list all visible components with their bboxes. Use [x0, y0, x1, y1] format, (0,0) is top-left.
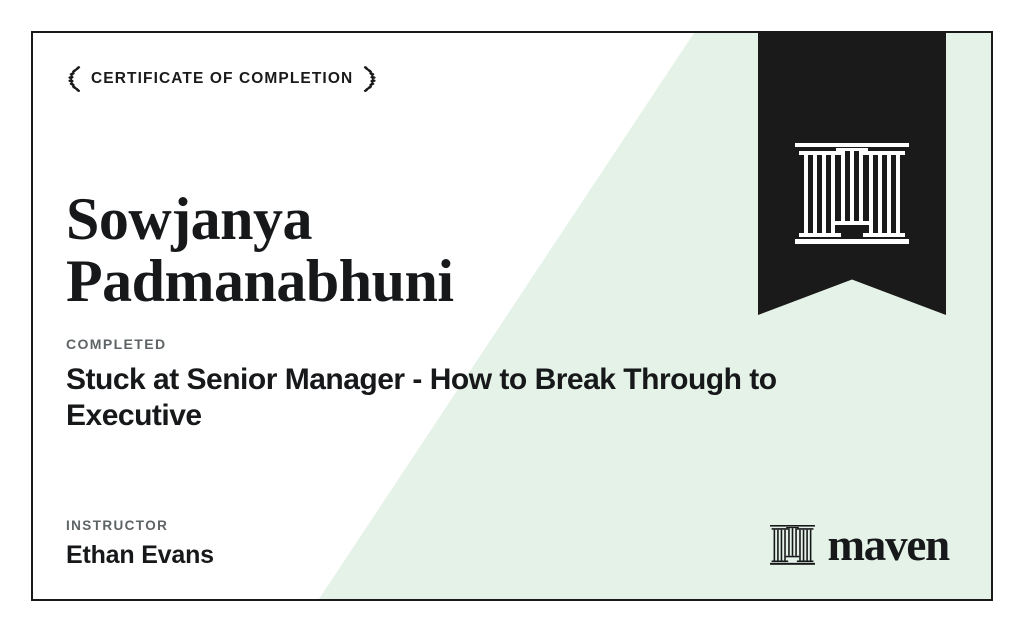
course-title: Stuck at Senior Manager - How to Break T…	[66, 362, 912, 434]
certificate-page: CERTIFICATE OF COMPLETION	[0, 0, 1024, 630]
maven-pillars-emblem-icon	[795, 143, 909, 247]
certificate-kicker: CERTIFICATE OF COMPLETION	[91, 71, 353, 87]
certificate-header: CERTIFICATE OF COMPLETION	[66, 66, 378, 92]
completed-label: COMPLETED	[66, 336, 167, 352]
certificate-card: CERTIFICATE OF COMPLETION	[31, 31, 993, 601]
maven-brand-lockup: maven	[770, 523, 950, 568]
maven-pillars-emblem-icon	[770, 525, 815, 566]
laurel-right-icon	[362, 65, 378, 93]
certificate-ribbon	[758, 31, 946, 315]
recipient-name: Sowjanya Padmanabhuni	[66, 188, 686, 313]
instructor-label: INSTRUCTOR	[66, 518, 168, 533]
maven-wordmark: maven	[828, 523, 950, 568]
instructor-name: Ethan Evans	[66, 541, 214, 570]
laurel-left-icon	[66, 65, 82, 93]
